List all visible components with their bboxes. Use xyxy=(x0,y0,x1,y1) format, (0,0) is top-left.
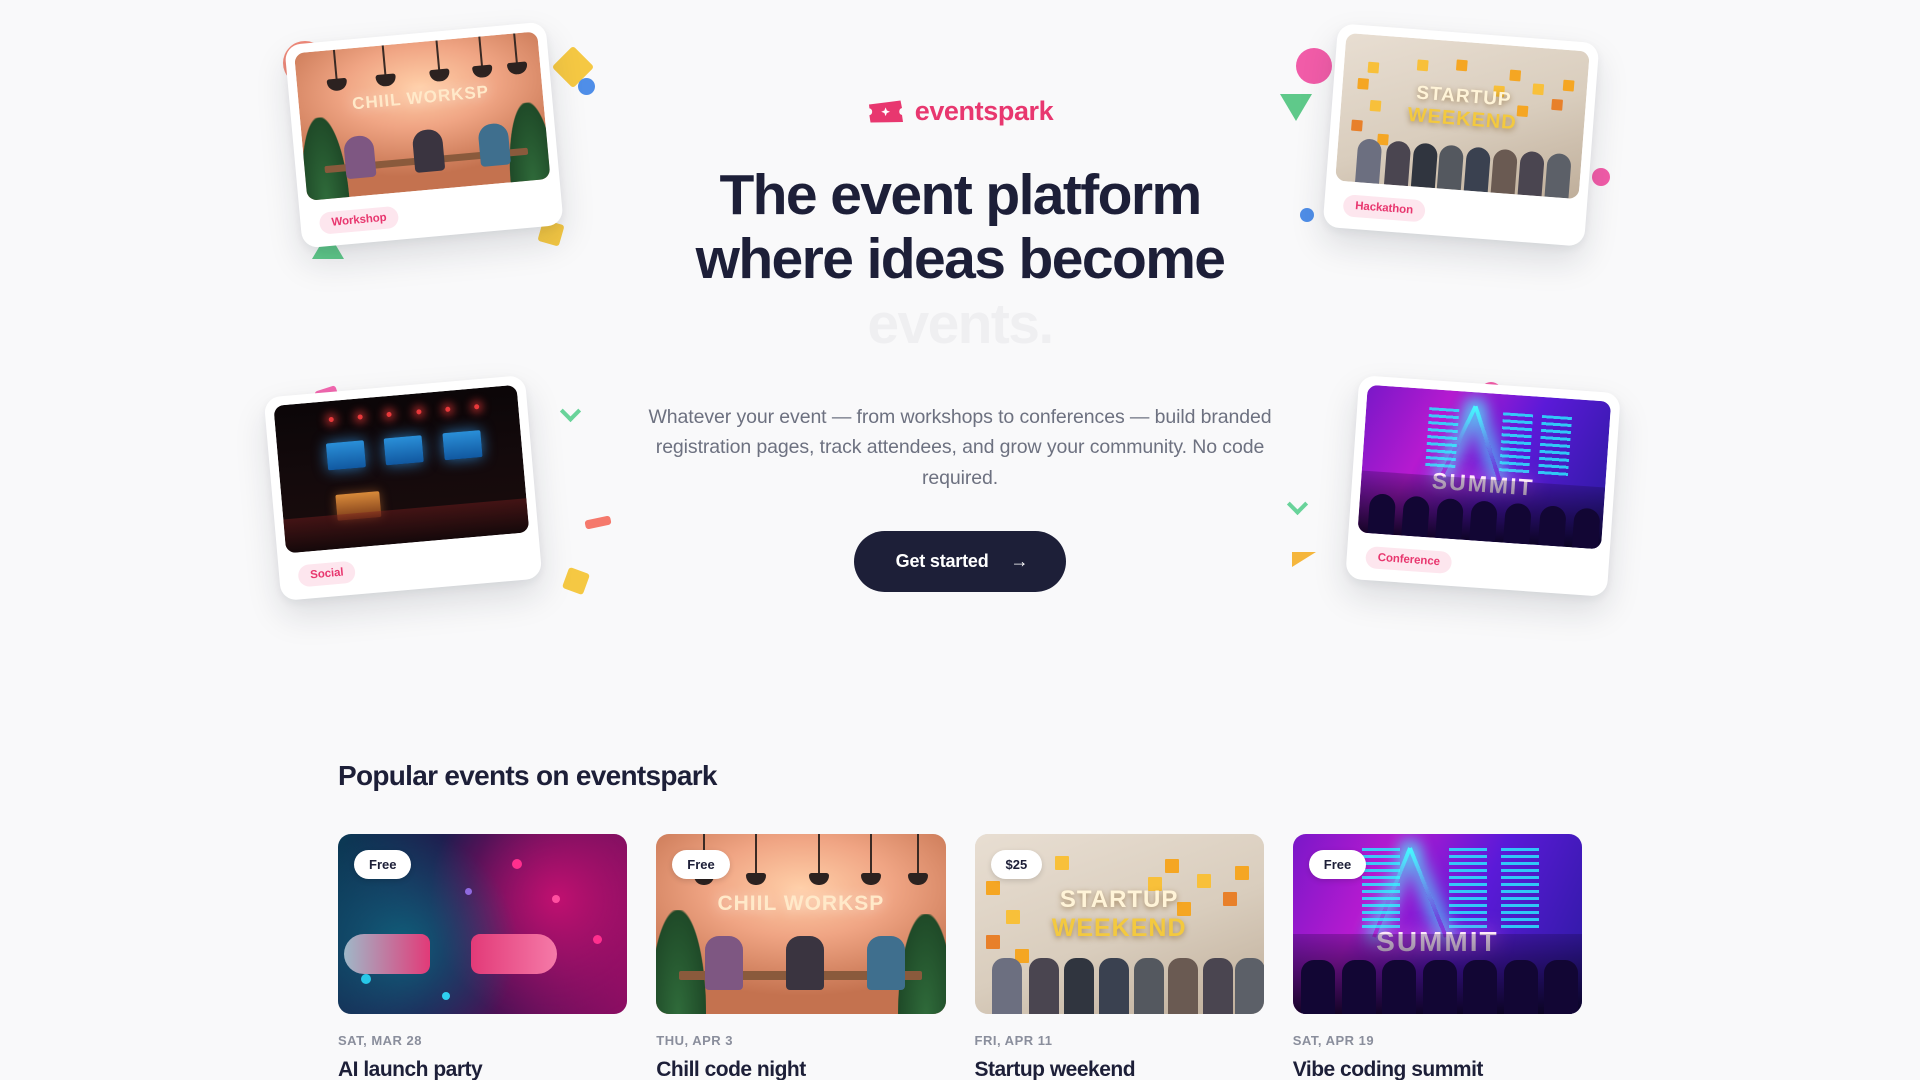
event-thumbnail: Free xyxy=(338,834,627,1014)
headline-line-1: The event platform xyxy=(719,163,1200,227)
event-card[interactable]: Free SUMMIT xyxy=(1293,834,1582,1080)
scene-sign-text: STARTUPWEEKEND xyxy=(975,886,1264,943)
pink-circle-decoration xyxy=(1296,48,1332,84)
crowd-silhouettes xyxy=(975,940,1264,1014)
floating-event-card-conference[interactable]: SUMMIT Conference xyxy=(1345,375,1621,597)
startup-weekend-photo: STARTUPWEEKEND xyxy=(1335,33,1590,199)
arrow-right-icon: → xyxy=(1011,552,1029,570)
category-chip: Social xyxy=(297,560,356,587)
event-date: SAT, MAR 28 xyxy=(338,1033,627,1048)
hero-section: CHIIL WORKSP Workshop xyxy=(0,0,1920,700)
ticket-icon xyxy=(867,99,904,124)
popular-events-section: Popular events on eventspark Free xyxy=(0,760,1920,1080)
coworking-photo: CHIIL WORKSP xyxy=(294,31,550,201)
event-date: SAT, APR 19 xyxy=(1293,1033,1582,1048)
event-title: Startup weekend xyxy=(975,1057,1264,1080)
event-thumbnail: $25 xyxy=(975,834,1264,1014)
category-chip: Conference xyxy=(1365,546,1453,574)
blue-circle-decoration-2 xyxy=(1300,208,1314,222)
event-date: THU, APR 3 xyxy=(656,1033,945,1048)
attendee-silhouettes xyxy=(1293,934,1582,1014)
event-title: Chill code night xyxy=(656,1057,945,1080)
event-title: Vibe coding summit xyxy=(1293,1057,1582,1080)
category-chip: Workshop xyxy=(319,205,400,234)
price-badge: Free xyxy=(1309,850,1366,879)
brand-lockup: eventspark xyxy=(620,96,1300,127)
event-card[interactable]: Free SAT, MAR 28 xyxy=(338,834,627,1080)
blue-circle-decoration xyxy=(578,78,595,95)
category-chip: Hackathon xyxy=(1342,194,1425,222)
coral-bar-decoration xyxy=(584,515,611,529)
hero-content: eventspark The event platform where idea… xyxy=(620,96,1300,592)
get-started-label: Get started xyxy=(896,551,989,572)
brand-name: eventspark xyxy=(915,96,1054,127)
get-started-button[interactable]: Get started → xyxy=(854,531,1067,592)
green-chevron-decoration xyxy=(560,401,581,422)
section-heading: Popular events on eventspark xyxy=(338,760,1582,792)
page-title: The event platform where ideas become ev… xyxy=(620,163,1300,356)
price-badge: $25 xyxy=(991,850,1043,879)
floating-event-card-hackathon[interactable]: STARTUPWEEKEND Hackathon xyxy=(1323,23,1600,246)
event-thumbnail: Free SUMMIT xyxy=(1293,834,1582,1014)
card-thumbnail: SUMMIT xyxy=(1357,385,1611,550)
yellow-square-decoration-2 xyxy=(562,567,590,595)
pink-circle-decoration-2 xyxy=(1592,168,1610,186)
hero-subtitle: Whatever your event — from workshops to … xyxy=(620,402,1300,493)
event-card[interactable]: Free CHIIL WORKSP xyxy=(656,834,945,1080)
price-badge: Free xyxy=(672,850,729,879)
event-grid: Free SAT, MAR 28 xyxy=(338,834,1582,1080)
card-thumbnail: STARTUPWEEKEND xyxy=(1335,33,1590,199)
cta-container: Get started → xyxy=(620,531,1300,592)
headline-line-2: where ideas become xyxy=(696,227,1225,291)
event-date: FRI, APR 11 xyxy=(975,1033,1264,1048)
scene-sign-text: CHIIL WORKSP xyxy=(656,892,945,916)
card-thumbnail xyxy=(273,385,529,554)
event-thumbnail: Free CHIIL WORKSP xyxy=(656,834,945,1014)
price-badge: Free xyxy=(354,850,411,879)
landing-page: CHIIL WORKSP Workshop xyxy=(0,0,1920,1080)
card-thumbnail: CHIIL WORKSP xyxy=(294,31,550,201)
neon-summit-photo: SUMMIT xyxy=(1357,385,1611,550)
headline-line-3: events. xyxy=(620,292,1300,356)
event-title: AI launch party xyxy=(338,1057,627,1080)
gaming-lan-photo xyxy=(273,385,529,554)
floating-event-card-workshop[interactable]: CHIIL WORKSP Workshop xyxy=(284,22,563,249)
event-card[interactable]: $25 xyxy=(975,834,1264,1080)
floating-event-card-social[interactable]: Social xyxy=(264,375,543,601)
